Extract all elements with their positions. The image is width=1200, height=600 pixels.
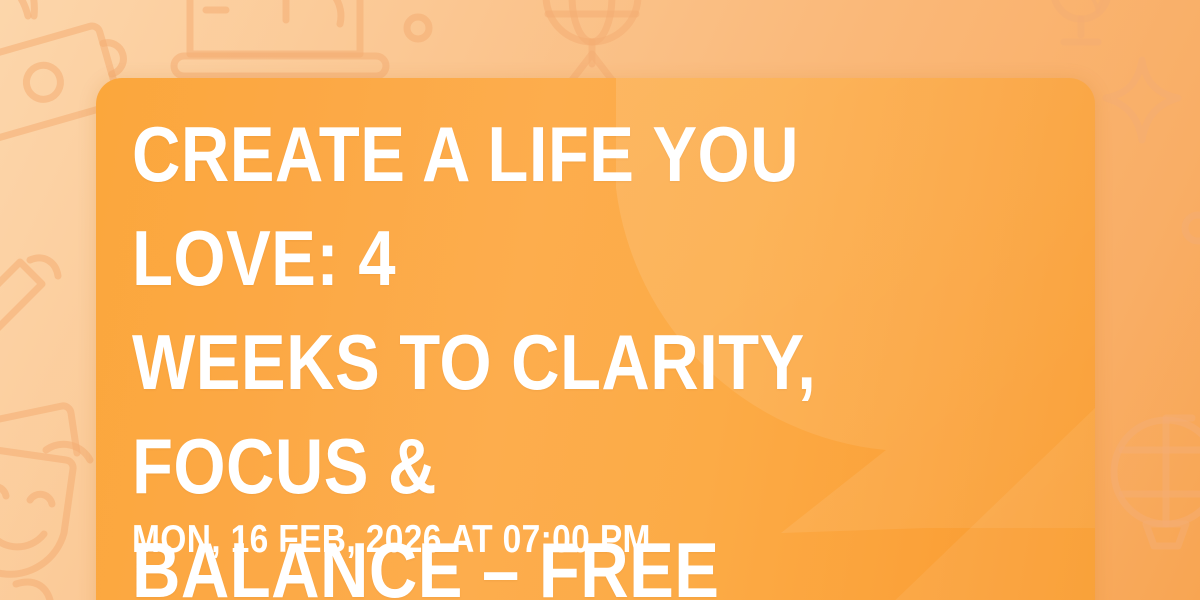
confetti-icon bbox=[16, 582, 50, 600]
theater-masks-icon bbox=[0, 406, 90, 574]
party-popper-icon bbox=[0, 258, 58, 336]
lantern-icon bbox=[1114, 418, 1200, 546]
confetti-icon bbox=[1185, 215, 1200, 241]
trophy-icon bbox=[1035, 0, 1128, 42]
sparkle-icon bbox=[1078, 0, 1118, 12]
globe-icon bbox=[546, 0, 638, 80]
event-date: Mon, 16 Feb, 2026 at 07:00 PM bbox=[132, 518, 651, 562]
confetti-icon bbox=[0, 0, 34, 16]
sparkle-icon bbox=[1106, 60, 1178, 140]
event-card-content: Create a Life You Love: 4 Weeks to Clari… bbox=[132, 78, 1095, 600]
confetti-icon bbox=[407, 17, 429, 39]
event-card[interactable]: Create a Life You Love: 4 Weeks to Clari… bbox=[96, 78, 1095, 600]
event-banner: Create a Life You Love: 4 Weeks to Clari… bbox=[0, 0, 1200, 600]
laptop-icon bbox=[174, 0, 386, 76]
